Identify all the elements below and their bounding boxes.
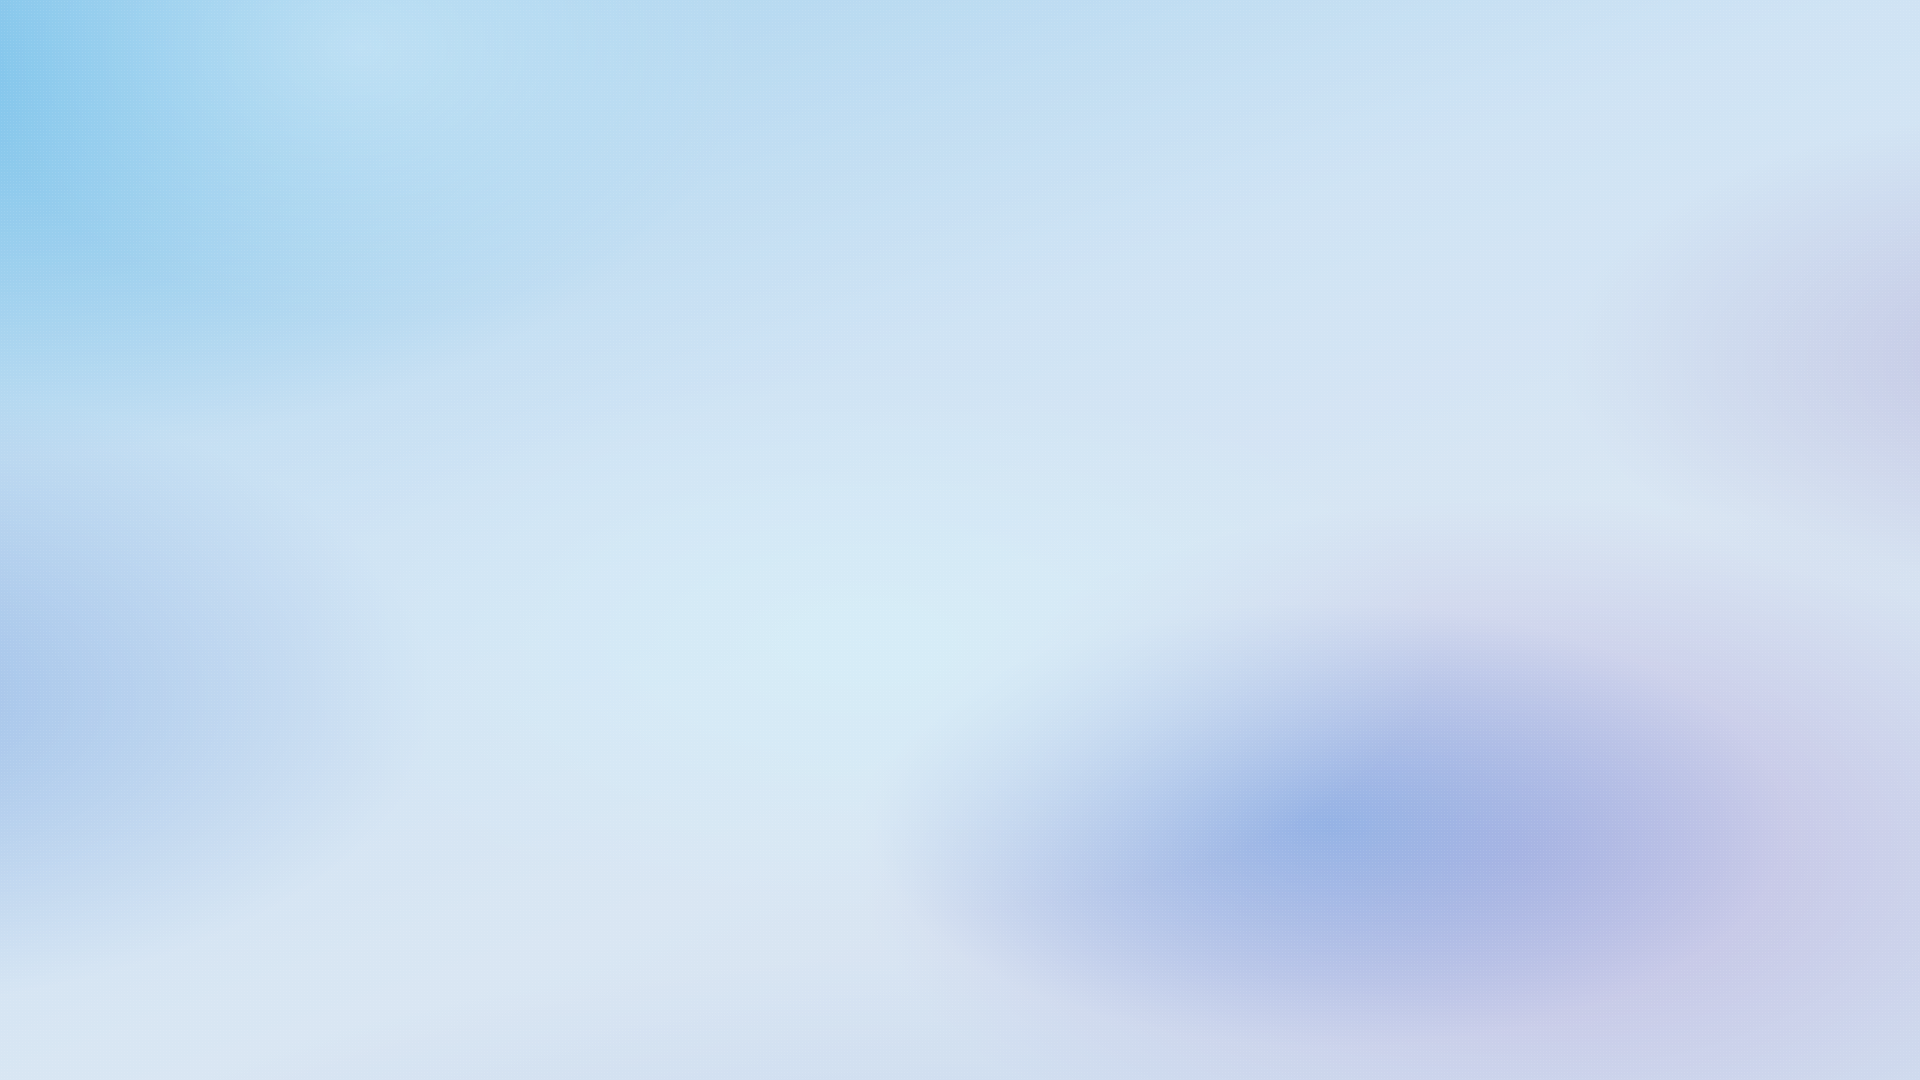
stage-outcomes-row xyxy=(0,236,1920,346)
process-diagram xyxy=(0,0,1920,1080)
stage-arrow-band xyxy=(88,368,1855,470)
